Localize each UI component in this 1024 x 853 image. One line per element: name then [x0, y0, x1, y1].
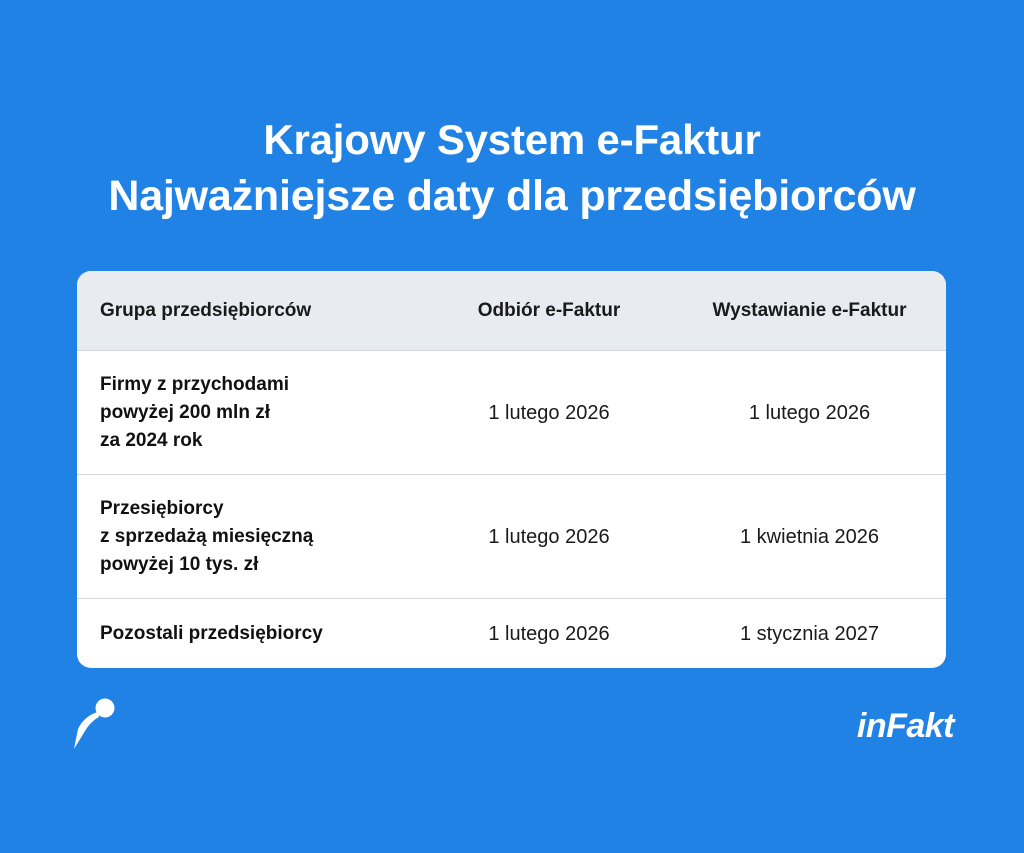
footer: inFakt	[0, 690, 1024, 780]
group-label-line: z sprzedażą miesięczną	[100, 523, 425, 551]
group-label: Firmy z przychodami powyżej 200 mln zł z…	[100, 371, 425, 455]
table-header-row: Grupa przedsiębiorców Odbiór e-Faktur Wy…	[77, 271, 946, 350]
row-group-cell: Firmy z przychodami powyżej 200 mln zł z…	[77, 371, 425, 455]
table-row: Przesiębiorcy z sprzedażą miesięczną pow…	[77, 474, 946, 598]
infakt-bird-mark-icon	[72, 698, 118, 750]
row-odbior-cell: 1 lutego 2026	[425, 621, 673, 647]
group-label: Pozostali przedsiębiorcy	[100, 620, 425, 648]
page-title: Krajowy System e-Faktur Najważniejsze da…	[0, 112, 1024, 224]
row-wystawianie-cell: 1 lutego 2026	[673, 400, 946, 426]
title-line-2: Najważniejsze daty dla przedsiębiorców	[0, 168, 1024, 224]
title-line-1: Krajowy System e-Faktur	[0, 112, 1024, 168]
group-label: Przesiębiorcy z sprzedażą miesięczną pow…	[100, 495, 425, 579]
row-wystawianie-cell: 1 kwietnia 2026	[673, 524, 946, 550]
date-value: 1 stycznia 2027	[740, 623, 879, 645]
date-value: 1 lutego 2026	[488, 526, 609, 548]
date-value: 1 lutego 2026	[488, 402, 609, 424]
row-odbior-cell: 1 lutego 2026	[425, 400, 673, 426]
column-header-wystawianie: Wystawianie e-Faktur	[673, 299, 946, 323]
table-row: Pozostali przedsiębiorcy 1 lutego 2026 1…	[77, 598, 946, 668]
group-label-line: Firmy z przychodami	[100, 371, 425, 399]
group-label-line: Pozostali przedsiębiorcy	[100, 620, 425, 648]
column-header-odbior: Odbiór e-Faktur	[425, 299, 673, 323]
group-label-line: powyżej 200 mln zł	[100, 399, 425, 427]
row-group-cell: Przesiębiorcy z sprzedażą miesięczną pow…	[77, 495, 425, 579]
column-header-group: Grupa przedsiębiorców	[77, 299, 425, 323]
table-row: Firmy z przychodami powyżej 200 mln zł z…	[77, 350, 946, 474]
date-value: 1 kwietnia 2026	[740, 526, 879, 548]
group-label-line: powyżej 10 tys. zł	[100, 551, 425, 579]
row-wystawianie-cell: 1 stycznia 2027	[673, 621, 946, 647]
infographic-canvas: Krajowy System e-Faktur Najważniejsze da…	[0, 0, 1024, 853]
row-group-cell: Pozostali przedsiębiorcy	[77, 620, 425, 648]
date-value: 1 lutego 2026	[488, 623, 609, 645]
group-label-line: Przesiębiorcy	[100, 495, 425, 523]
date-value: 1 lutego 2026	[749, 402, 870, 424]
row-odbior-cell: 1 lutego 2026	[425, 524, 673, 550]
dates-table-card: Grupa przedsiębiorców Odbiór e-Faktur Wy…	[77, 271, 946, 668]
infakt-wordmark: inFakt	[857, 706, 954, 746]
group-label-line: za 2024 rok	[100, 427, 425, 455]
